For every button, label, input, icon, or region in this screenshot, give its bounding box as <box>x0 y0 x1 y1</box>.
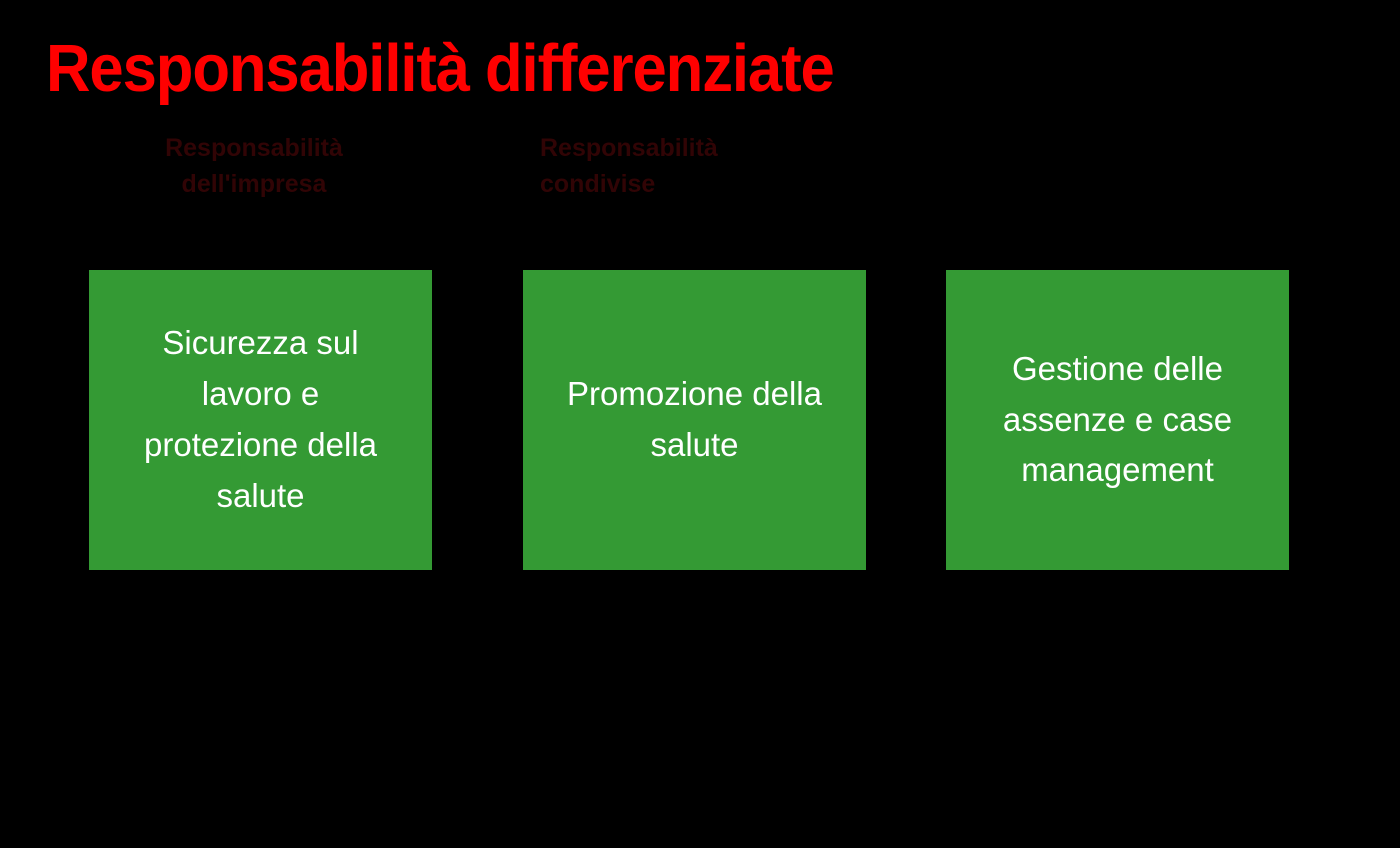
box-gestione-label: Gestione delle assenze e case management <box>962 344 1273 496</box>
box-gestione[interactable]: Gestione delle assenze e case management <box>946 270 1289 570</box>
slide-canvas: Responsabilità differenziate Responsabil… <box>0 0 1400 848</box>
responsibility-box-row: Sicurezza sul lavoro e protezione della … <box>0 0 1400 848</box>
box-promozione-label: Promozione della salute <box>539 369 850 471</box>
box-promozione[interactable]: Promozione della salute <box>523 270 866 570</box>
box-sicurezza[interactable]: Sicurezza sul lavoro e protezione della … <box>89 270 432 570</box>
box-sicurezza-label: Sicurezza sul lavoro e protezione della … <box>105 318 416 521</box>
